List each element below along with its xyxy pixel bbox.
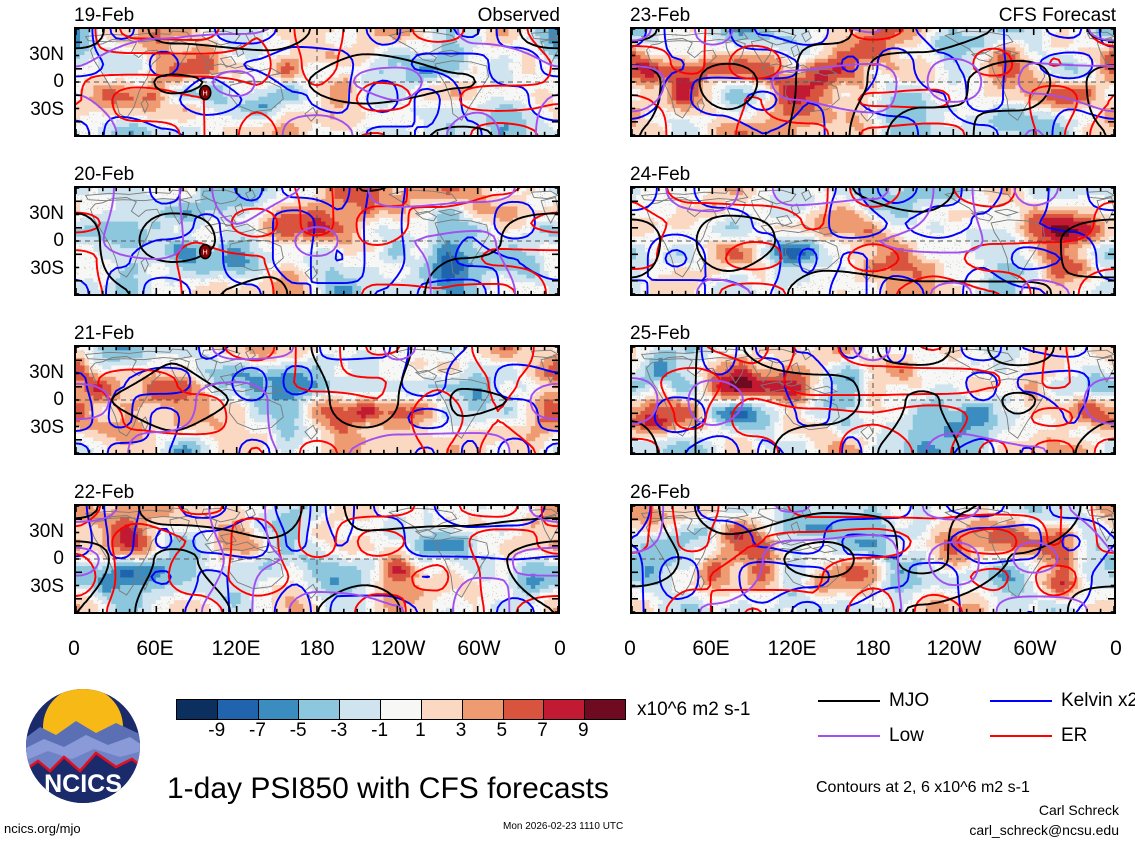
contour-note: Contours at 2, 6 x10^6 m2 s-1 — [816, 779, 1030, 797]
map-panel-21-feb: 21-Feb — [74, 324, 560, 455]
colorbar-segment-2 — [258, 700, 299, 719]
panel-date-label: 24-Feb — [630, 165, 690, 184]
colorbar-segment-9 — [543, 700, 584, 719]
colorbar-segment-7 — [462, 700, 503, 719]
legend-item-kelvin-x2: Kelvin x2 — [990, 691, 1135, 710]
column-header-left: Observed — [478, 6, 560, 25]
generation-timestamp: Mon 2026-02-23 1110 UTC — [503, 821, 623, 833]
map-plot-area — [630, 345, 1116, 455]
panel-date-label: 22-Feb — [74, 483, 134, 502]
x-axis-tick-right-0: 0 — [588, 638, 672, 659]
map-panel-24-feb: 24-Feb — [630, 165, 1116, 296]
map-panel-23-feb: 23-FebCFS Forecast — [630, 6, 1116, 137]
colorbar-segment-10 — [584, 700, 625, 719]
y-axis-tick-30s: 30S — [0, 418, 64, 437]
y-axis-tick-0: 0 — [0, 390, 64, 409]
colorbar-tick-2: -5 — [275, 721, 321, 740]
x-axis-tick-left-3: 180 — [275, 638, 359, 659]
panel-date-label: 21-Feb — [74, 324, 134, 343]
legend-swatch-line — [818, 735, 880, 737]
colorbar-tick-8: 7 — [520, 721, 566, 740]
figure-title: 1-day PSI850 with CFS forecasts — [167, 773, 609, 805]
x-axis-tick-left-2: 120E — [194, 638, 278, 659]
panel-date-label: 20-Feb — [74, 165, 134, 184]
x-axis-tick-right-3: 180 — [831, 638, 915, 659]
x-axis-tick-right-2: 120E — [750, 638, 834, 659]
colorbar-tick-6: 3 — [438, 721, 484, 740]
x-axis-tick-left-0: 0 — [32, 638, 116, 659]
site-url[interactable]: ncics.org/mjo — [4, 821, 81, 836]
y-axis-tick-30s: 30S — [0, 100, 64, 119]
colorbar-tick-3: -3 — [316, 721, 362, 740]
map-plot-area — [630, 504, 1116, 614]
colorbar-tick-0: -9 — [194, 721, 240, 740]
colorbar-segment-1 — [217, 700, 258, 719]
colorbar-segment-5 — [380, 700, 421, 719]
x-axis-tick-right-4: 120W — [912, 638, 996, 659]
author-name: Carl Schreck — [1039, 802, 1119, 818]
panel-date-label: 25-Feb — [630, 324, 690, 343]
panel-date-label: 19-Feb — [74, 6, 134, 25]
y-axis-tick-30n: 30N — [0, 522, 64, 541]
map-plot-area: H — [74, 27, 560, 137]
colorbar-unit-label: x10^6 m2 s-1 — [637, 700, 750, 719]
x-axis-tick-left-1: 60E — [113, 638, 197, 659]
colorbar-tick-1: -7 — [234, 721, 280, 740]
colorbar-tick-7: 5 — [479, 721, 525, 740]
legend-swatch-line — [990, 735, 1052, 737]
x-axis-tick-right-6: 0 — [1074, 638, 1135, 659]
colorbar-segment-3 — [298, 700, 339, 719]
y-axis-tick-0: 0 — [0, 72, 64, 91]
map-panel-19-feb: 19-FebObservedH — [74, 6, 560, 137]
x-axis-tick-right-1: 60E — [669, 638, 753, 659]
map-panel-20-feb: 20-FebH — [74, 165, 560, 296]
y-axis-tick-30n: 30N — [0, 204, 64, 223]
y-axis-tick-0: 0 — [0, 549, 64, 568]
y-axis-tick-30s: 30S — [0, 577, 64, 596]
colorbar-segment-4 — [339, 700, 380, 719]
author-email: carl_schreck@ncsu.edu — [969, 822, 1119, 838]
legend-swatch-line — [990, 700, 1052, 702]
y-axis-tick-0: 0 — [0, 231, 64, 250]
colorbar-segment-6 — [421, 700, 462, 719]
colorbar-tick-5: 1 — [397, 721, 443, 740]
map-panel-22-feb: 22-Feb — [74, 483, 560, 614]
colorbar — [176, 699, 626, 720]
colorbar-tick-9: 9 — [560, 721, 606, 740]
panel-date-label: 23-Feb — [630, 6, 690, 25]
map-plot-area — [74, 345, 560, 455]
column-header-right: CFS Forecast — [999, 6, 1116, 25]
map-plot-area: H — [74, 186, 560, 296]
legend-label: ER — [1061, 726, 1087, 745]
legend-label: MJO — [889, 691, 929, 710]
y-axis-tick-30s: 30S — [0, 259, 64, 278]
x-axis-tick-left-4: 120W — [356, 638, 440, 659]
colorbar-tick-4: -1 — [357, 721, 403, 740]
legend-item-mjo: MJO — [818, 691, 929, 710]
legend-label: Kelvin x2 — [1061, 691, 1135, 710]
map-plot-area — [630, 186, 1116, 296]
legend-item-low: Low — [818, 726, 924, 745]
colorbar-segment-0 — [177, 700, 217, 719]
y-axis-tick-30n: 30N — [0, 45, 64, 64]
legend-label: Low — [889, 726, 924, 745]
svg-text:H: H — [203, 91, 208, 98]
panel-date-label: 26-Feb — [630, 483, 690, 502]
map-plot-area — [630, 27, 1116, 137]
legend-item-er: ER — [990, 726, 1087, 745]
ncics-logo[interactable]: NCICS — [24, 687, 142, 810]
x-axis-tick-left-5: 60W — [437, 638, 521, 659]
y-axis-tick-30n: 30N — [0, 363, 64, 382]
figure-canvas: 19-FebObservedH30N030S20-FebH30N030S21-F… — [0, 0, 1135, 844]
map-panel-25-feb: 25-Feb — [630, 324, 1116, 455]
colorbar-segment-8 — [503, 700, 544, 719]
map-plot-area — [74, 504, 560, 614]
legend-swatch-line — [818, 700, 880, 702]
x-axis-tick-right-5: 60W — [993, 638, 1077, 659]
map-panel-26-feb: 26-Feb — [630, 483, 1116, 614]
